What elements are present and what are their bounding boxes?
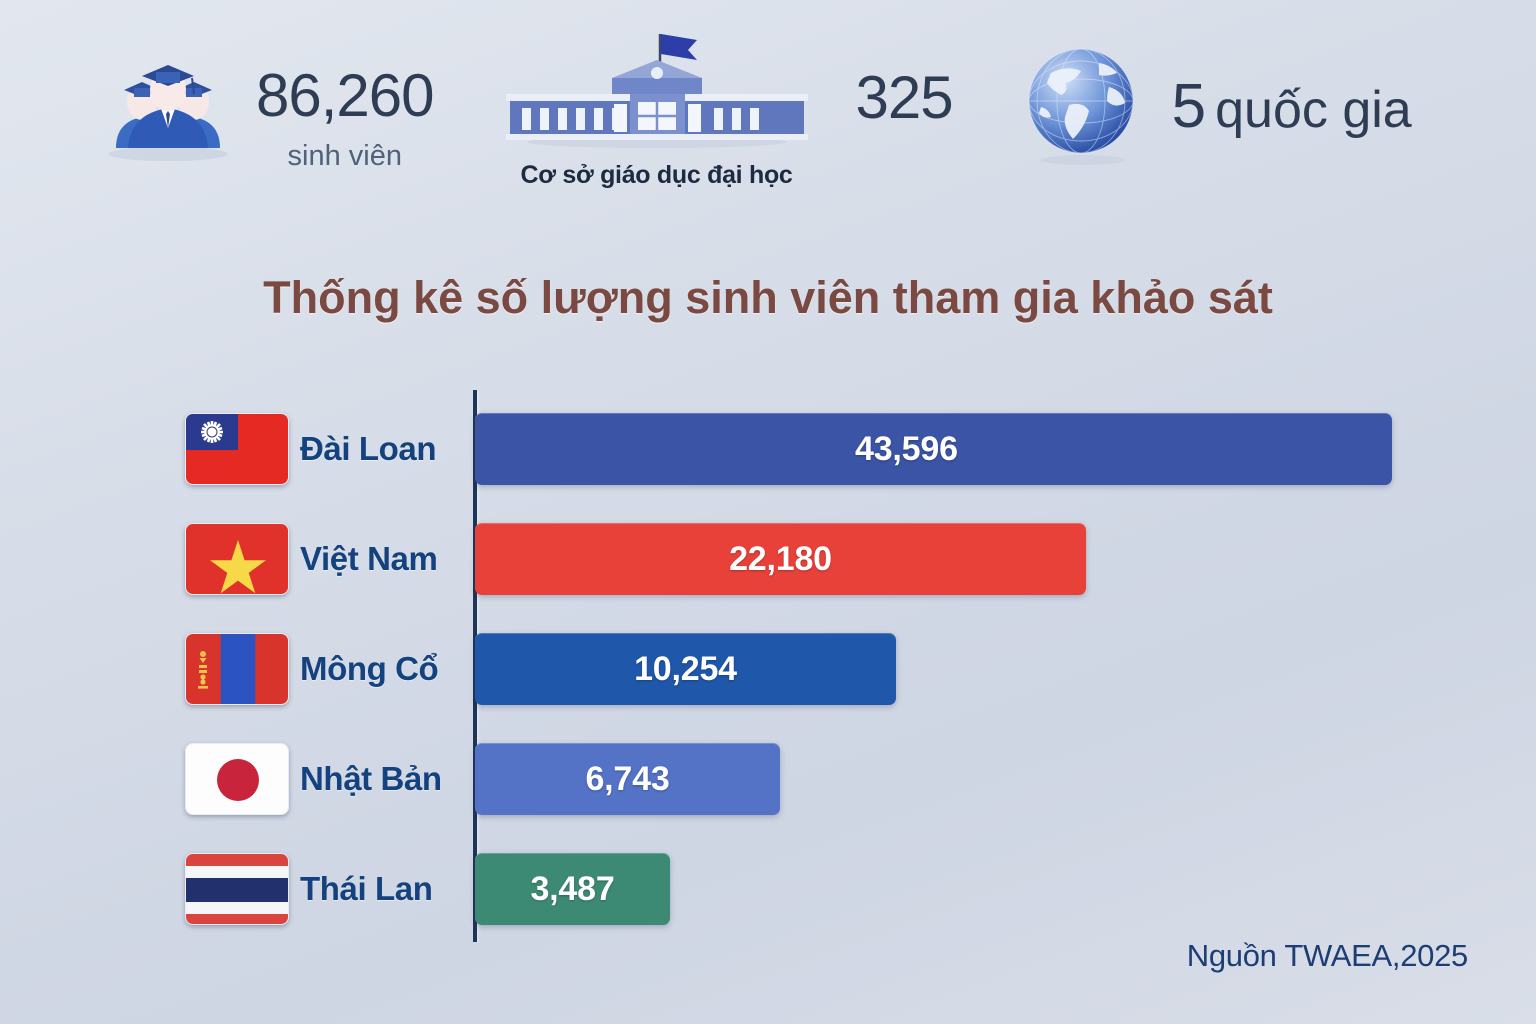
bar-value-thailand: 3,487 (475, 870, 670, 909)
countries-count: 5 (1172, 76, 1205, 138)
flag-thailand (185, 853, 289, 925)
stat-block-countries: 5 quốc gia (1021, 43, 1412, 173)
flag-mongolia (185, 633, 289, 705)
institutions-caption: Cơ sở giáo dục đại học (492, 163, 822, 188)
bar-value-vietnam: 22,180 (475, 540, 1086, 579)
flag-taiwan (185, 413, 289, 485)
source-attribution: Nguồn TWAEA,2025 (1187, 938, 1468, 974)
stat-block-students: 86,260 sinh viên (98, 44, 434, 171)
bar-chart: Đài Loan 43,596 Việt Nam 22,180 (0, 388, 1536, 958)
page-title: Thống kê số lượng sinh viên tham gia khả… (0, 272, 1536, 324)
countries-unit: quốc gia (1215, 80, 1412, 140)
bar-japan: 6,743 (475, 743, 780, 815)
globe-icon (1021, 43, 1146, 173)
flag-japan (185, 743, 289, 815)
country-label-mongolia: Mông Cổ (300, 650, 472, 688)
bar-thailand: 3,487 (475, 853, 670, 925)
bar-vietnam: 22,180 (475, 523, 1086, 595)
students-caption: sinh viên (256, 142, 434, 171)
bar-row: Nhật Bản 6,743 (0, 729, 1536, 829)
stats-strip: 86,260 sinh viên (0, 0, 1536, 215)
university-building-icon (492, 28, 822, 153)
bar-mongolia: 10,254 (475, 633, 896, 705)
bar-taiwan: 43,596 (475, 413, 1392, 485)
country-label-thailand: Thái Lan (300, 870, 472, 908)
bar-row: Thái Lan 3,487 (0, 839, 1536, 939)
bar-value-mongolia: 10,254 (475, 650, 896, 689)
institutions-count: 325 (856, 68, 953, 128)
stat-block-institutions: Cơ sở giáo dục đại học 325 (492, 28, 953, 188)
graduates-icon (98, 44, 238, 167)
students-count: 86,260 (256, 66, 434, 126)
bar-value-taiwan: 43,596 (475, 430, 1392, 469)
bar-row: Mông Cổ 10,254 (0, 619, 1536, 719)
bar-row: Việt Nam 22,180 (0, 509, 1536, 609)
country-label-taiwan: Đài Loan (300, 430, 472, 468)
bar-row: Đài Loan 43,596 (0, 399, 1536, 499)
bar-value-japan: 6,743 (475, 760, 780, 799)
country-label-japan: Nhật Bản (300, 760, 472, 798)
country-label-vietnam: Việt Nam (300, 540, 472, 578)
flag-vietnam (185, 523, 289, 595)
